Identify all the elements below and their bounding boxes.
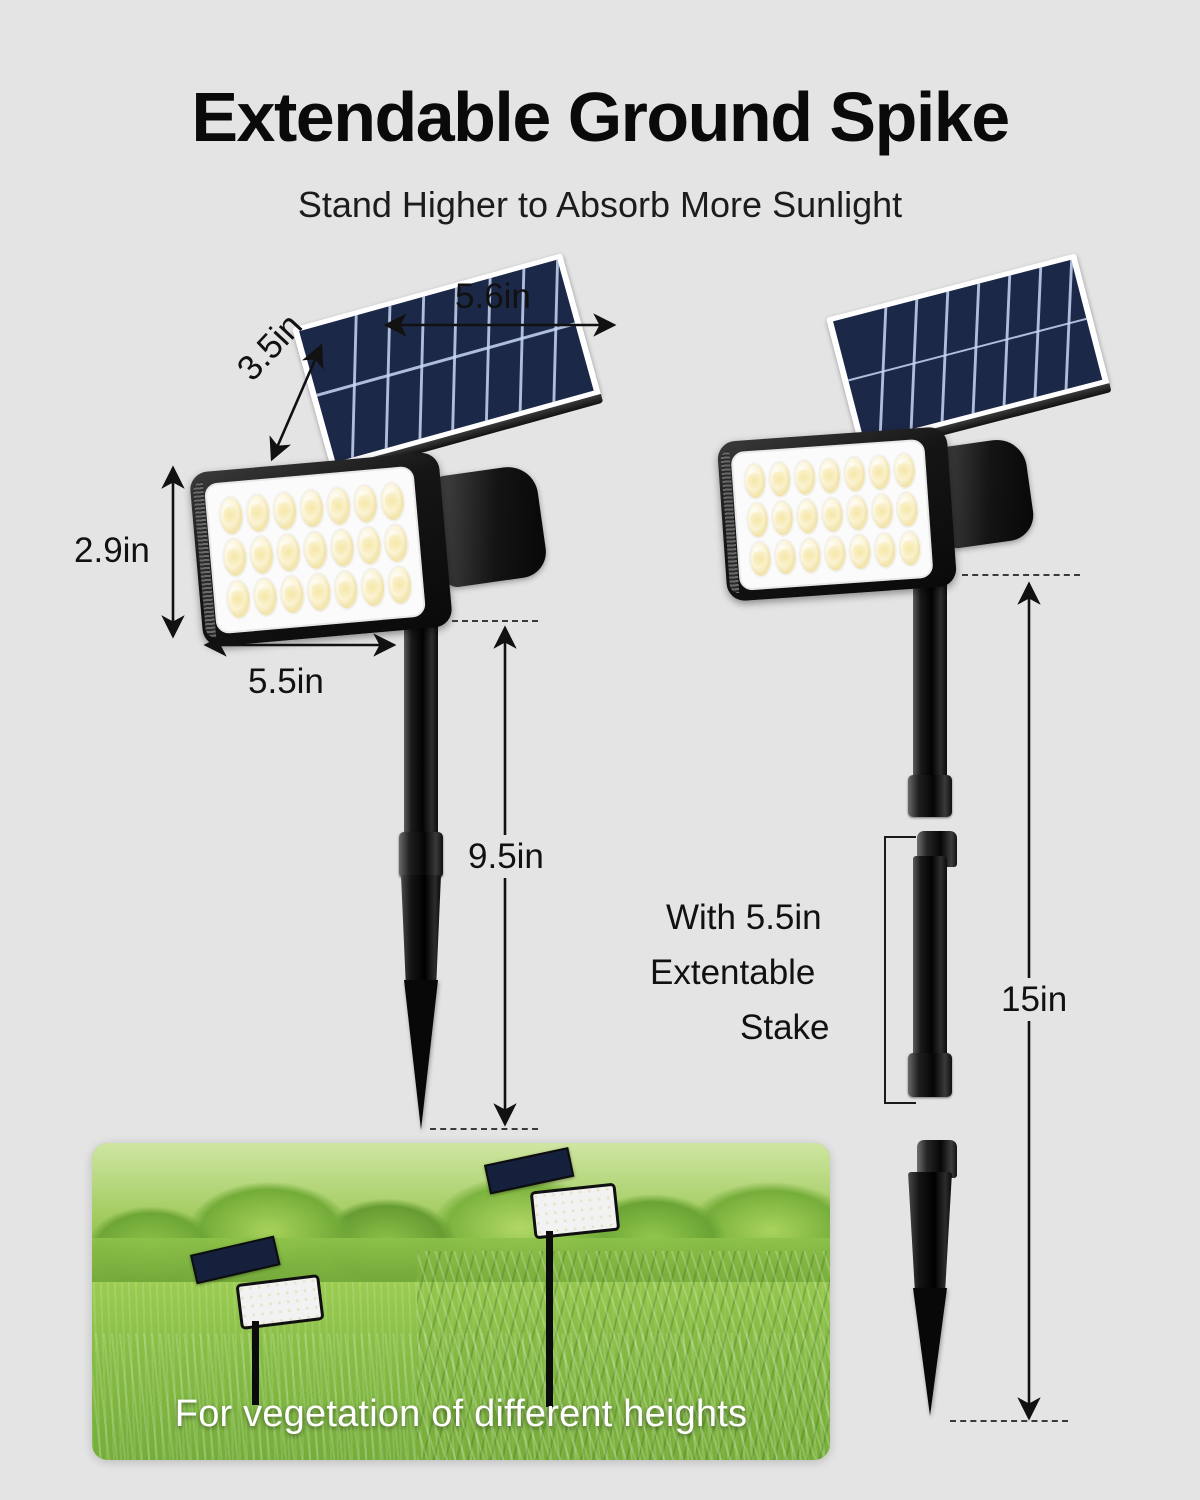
page-title: Extendable Ground Spike [0,82,1200,152]
led [385,564,413,606]
solar-cells-right [833,260,1102,442]
led [794,497,820,536]
led [842,455,868,494]
lifestyle-photo: For vegetation of different heights [92,1143,830,1460]
header: Extendable Ground Spike Stand Higher to … [0,0,1200,226]
led [270,490,298,532]
extension-note-line-1: With 5.5in [666,900,822,935]
led [797,536,823,575]
led [351,482,379,524]
infographic-page: Extendable Ground Spike Stand Higher to … [0,0,1200,1500]
guide-line-top-right [962,574,1080,576]
extension-note-line-3: Stake [740,1010,830,1045]
pole-collar-upper-right [908,775,952,817]
dimension-arrow-2-9in [158,462,188,642]
ground-spike-left [404,980,438,1130]
led [767,460,793,499]
lamp-head-left [189,451,453,647]
photo-caption: For vegetation of different heights [92,1393,830,1436]
solar-panel-right [826,253,1110,449]
led [331,568,359,610]
led [301,529,329,571]
extension-tube-right [913,856,947,1061]
solar-cells-left [299,260,594,463]
led [742,462,768,501]
led [822,534,848,573]
spike-body-left [401,875,441,985]
led-lens-left [204,466,426,635]
dim-label-total-height-right: 15in [995,978,1073,1021]
led [897,529,923,568]
solar-panel-left [292,253,601,470]
extension-note-line-2: Extentable [650,955,815,990]
led [792,458,818,497]
led [358,566,386,608]
led [382,522,410,564]
led [747,540,773,579]
led [378,480,406,522]
led [869,492,895,531]
led [278,573,306,615]
led [355,524,383,566]
led [251,576,279,618]
guide-line-bottom-right [950,1420,1068,1422]
ground-spike-right [913,1288,947,1416]
led [304,571,332,613]
led [872,531,898,570]
led [297,487,325,529]
led [819,496,845,535]
led [772,538,798,577]
led [847,533,873,572]
extendable-section-bracket [884,836,916,1104]
spike-body-right [908,1172,952,1294]
led [744,501,770,540]
pole-upper-right [913,582,947,782]
page-subtitle: Stand Higher to Absorb More Sunlight [0,184,1200,226]
led [224,578,252,620]
led [866,453,892,492]
led [328,527,356,569]
led [324,485,352,527]
dim-label-panel-width: 5.6in [455,279,531,314]
led [216,494,244,536]
pole-left [404,600,438,845]
led [274,531,302,573]
dim-label-head-width: 5.5in [248,664,324,699]
led [844,494,870,533]
dim-label-head-height: 2.9in [74,533,150,568]
led [243,492,271,534]
pole-collar-left [399,832,443,878]
led [894,490,920,529]
led-lens-right [730,439,933,591]
dimension-arrow-5-5in [200,630,400,660]
lamp-head-right [717,426,958,602]
led [891,451,917,490]
led [247,534,275,576]
led [769,499,795,538]
led [220,536,248,578]
photo-lamp-high-pole [546,1231,553,1407]
photo-lamp-high-head [530,1183,621,1240]
dim-label-total-height-left: 9.5in [462,835,550,878]
guide-line-bottom-left [430,1128,538,1130]
led [817,457,843,496]
